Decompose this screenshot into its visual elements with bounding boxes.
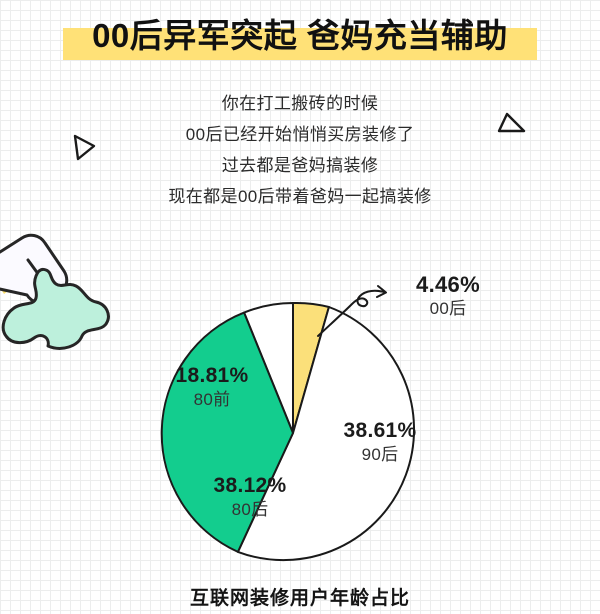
pie-slice-00hou: [293, 303, 329, 433]
triangle-outline-right-icon: [72, 132, 98, 167]
page-title: 00后异军突起 爸妈充当辅助: [0, 14, 600, 58]
pie-label-90hou-name: 90后: [320, 443, 440, 467]
infographic-page: 00后异军突起 爸妈充当辅助 你在打工搬砖的时候 00后已经开始悄悄买房装修了 …: [0, 0, 600, 614]
pie-label-80qian-name: 80前: [152, 388, 272, 412]
pie-label-90hou-value: 38.61%: [320, 418, 440, 443]
pie-slice-80hou: [162, 313, 293, 552]
pie-label-00hou-name: 00后: [388, 297, 508, 321]
pie-label-90hou: 38.61% 90后: [320, 418, 440, 467]
curved-arrow-icon: [318, 286, 386, 336]
pie-label-80hou: 38.12% 80后: [190, 473, 310, 522]
chart-caption: 互联网装修用户年龄占比: [0, 583, 600, 610]
pie-label-00hou-value: 4.46%: [388, 272, 508, 297]
pie-label-80hou-name: 80后: [190, 498, 310, 522]
title-block: 00后异军突起 爸妈充当辅助: [0, 8, 600, 66]
triangle-outline-up-icon: [495, 110, 529, 141]
pie-slice-90hou: [238, 307, 414, 560]
pie-label-80hou-value: 38.12%: [190, 473, 310, 498]
pie-label-00hou: 4.46% 00后: [388, 272, 508, 321]
pie-label-80qian-value: 18.81%: [152, 363, 272, 388]
pie-slice-80qian: [244, 303, 293, 433]
pie-label-80qian: 18.81% 80前: [152, 363, 272, 412]
paint-tube-spill-icon: [0, 216, 117, 356]
lead-line-4: 现在都是00后带着爸妈一起搞装修: [0, 181, 600, 212]
